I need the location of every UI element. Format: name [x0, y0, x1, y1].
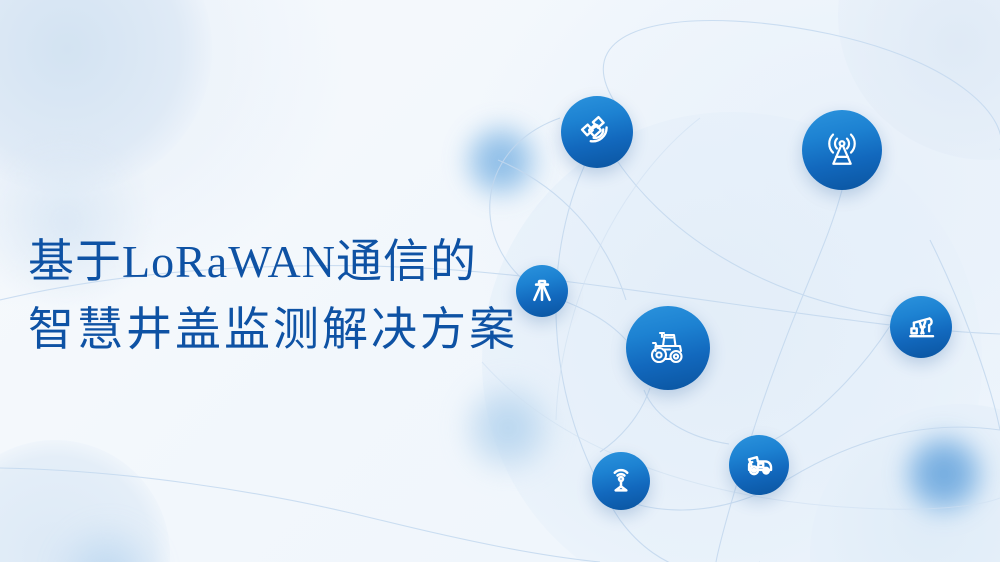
node-survey-tripod[interactable] — [516, 265, 568, 317]
decor-dot-bottom-right — [898, 428, 990, 520]
node-wireless-sensor[interactable] — [592, 452, 650, 510]
decor-dot-mid-center — [458, 378, 558, 478]
decor-blob-bottom-left — [0, 440, 170, 562]
node-radio-tower[interactable] — [802, 110, 882, 190]
satellite-dish-icon — [577, 112, 617, 152]
page-title: 基于LoRaWAN通信的 智慧井盖监测解决方案 — [28, 228, 568, 364]
node-tractor[interactable] — [626, 306, 710, 390]
title-line-1: 基于LoRaWAN通信的 — [28, 228, 568, 296]
title-line-2: 智慧井盖监测解决方案 — [28, 296, 568, 364]
node-harvester[interactable] — [729, 435, 789, 495]
decor-blob-top-left — [0, 0, 212, 194]
slide-canvas: 基于LoRaWAN通信的 智慧井盖监测解决方案 — [0, 0, 1000, 562]
harvester-icon — [742, 448, 776, 482]
oil-pumpjack-icon — [904, 310, 938, 344]
survey-tripod-icon — [528, 277, 556, 305]
radio-tower-icon — [820, 128, 864, 172]
node-satellite-dish[interactable] — [561, 96, 633, 168]
decor-dot-upper-center — [458, 118, 544, 204]
wireless-sensor-icon — [605, 465, 637, 497]
node-oil-pumpjack[interactable] — [890, 296, 952, 358]
decor-dot-bottom-left — [48, 516, 168, 562]
tractor-icon — [644, 324, 692, 372]
decor-blob-bottom-right — [810, 404, 1000, 562]
